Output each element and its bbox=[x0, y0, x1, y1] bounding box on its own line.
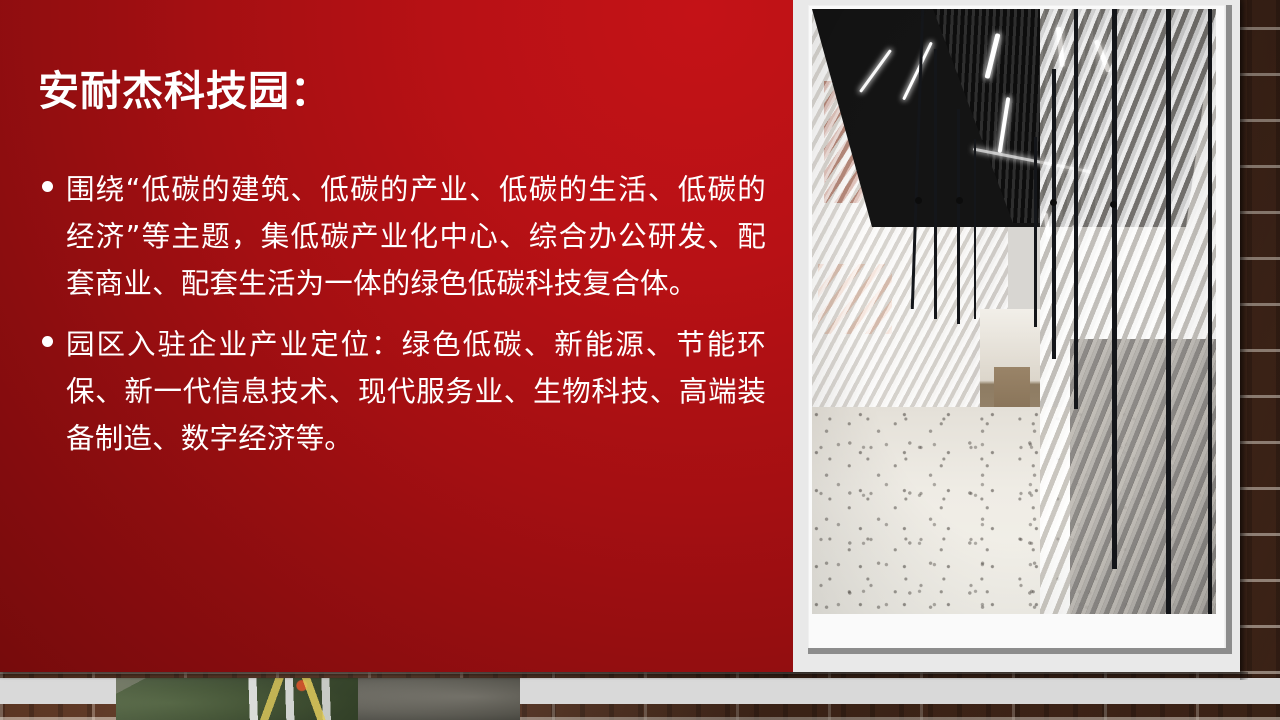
bullet-dot-icon bbox=[42, 336, 53, 347]
presentation-stage: 安耐杰科技园： 围绕“低碳的建筑、低碳的产业、低碳的生活、低碳的经济”等主题，集… bbox=[0, 0, 1280, 720]
slide-shadow-right bbox=[1240, 0, 1248, 680]
bullet-text-1: 围绕“低碳的建筑、低碳的产业、低碳的生活、低碳的经济”等主题，集低碳产业化中心、… bbox=[66, 173, 766, 300]
bullet-item-2: 园区入驻企业产业定位：绿色低碳、新能源、节能环保、新一代信息技术、现代服务业、生… bbox=[36, 321, 766, 462]
active-slide[interactable]: 安耐杰科技园： 围绕“低碳的建筑、低碳的产业、低碳的生活、低碳的经济”等主题，集… bbox=[0, 0, 1240, 672]
red-content-panel: 安耐杰科技园： 围绕“低碳的建筑、低碳的产业、低碳的生活、低碳的经济”等主题，集… bbox=[0, 0, 793, 672]
aerial-photo-details bbox=[116, 678, 520, 720]
photo-frame-bevel-right bbox=[1226, 5, 1232, 654]
photo-frame-bevel-bottom bbox=[808, 648, 1232, 654]
bullet-text-2: 园区入驻企业产业定位：绿色低碳、新能源、节能环保、新一代信息技术、现代服务业、生… bbox=[66, 328, 766, 455]
slide-title: 安耐杰科技园： bbox=[38, 68, 332, 115]
photo-vignette bbox=[812, 9, 1216, 614]
photo-frame bbox=[793, 0, 1240, 672]
slide-shadow-bottom bbox=[0, 672, 1248, 680]
office-corridor-photo bbox=[812, 9, 1216, 614]
bullet-list: 围绕“低碳的建筑、低碳的产业、低碳的生活、低碳的经济”等主题，集低碳产业化中心、… bbox=[36, 166, 766, 476]
next-slide-aerial-photo bbox=[116, 678, 520, 720]
bullet-dot-icon bbox=[42, 181, 53, 192]
bullet-item-1: 围绕“低碳的建筑、低碳的产业、低碳的生活、低碳的经济”等主题，集低碳产业化中心、… bbox=[36, 166, 766, 307]
